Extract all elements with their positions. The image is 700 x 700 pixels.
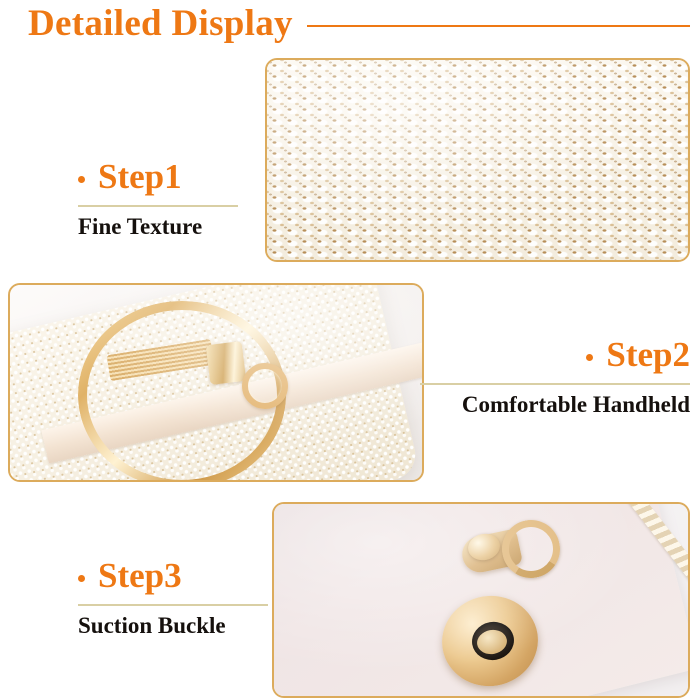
step-1-divider (78, 205, 238, 207)
suction-buckle-photo (272, 502, 690, 698)
photo-sheen (10, 285, 422, 480)
step-2-label: Step2 (606, 334, 690, 376)
step-2-caption: Step2 Comfortable Handheld (420, 334, 690, 419)
fine-texture-photo (265, 58, 690, 262)
step-3-heading: Step3 (78, 555, 268, 597)
step-2-text: Comfortable Handheld (420, 391, 690, 419)
step-1-heading: Step1 (78, 156, 238, 198)
knit-fabric-texture (267, 60, 688, 260)
suction-buckle-image (274, 504, 688, 696)
step-1-label: Step1 (98, 156, 182, 198)
step-3-text: Suction Buckle (78, 612, 268, 640)
fine-texture-image (267, 60, 688, 260)
photo-sheen (274, 504, 688, 696)
header-rule (307, 25, 690, 27)
comfortable-handheld-photo (8, 283, 424, 482)
comfortable-handheld-image (10, 285, 422, 480)
step-2-divider (420, 383, 690, 385)
step-3-divider (78, 604, 268, 606)
bullet-dot-icon (586, 354, 593, 361)
step-1-text: Fine Texture (78, 213, 238, 241)
step-2-heading: Step2 (420, 334, 690, 376)
bullet-dot-icon (78, 176, 85, 183)
page-header: Detailed Display (28, 2, 690, 46)
detailed-display-page: Detailed Display Step1 Fine Texture (0, 0, 700, 700)
page-title: Detailed Display (28, 2, 293, 46)
step-1-caption: Step1 Fine Texture (78, 156, 238, 241)
step-3-caption: Step3 Suction Buckle (78, 555, 268, 640)
bullet-dot-icon (78, 575, 85, 582)
step-3-label: Step3 (98, 555, 182, 597)
